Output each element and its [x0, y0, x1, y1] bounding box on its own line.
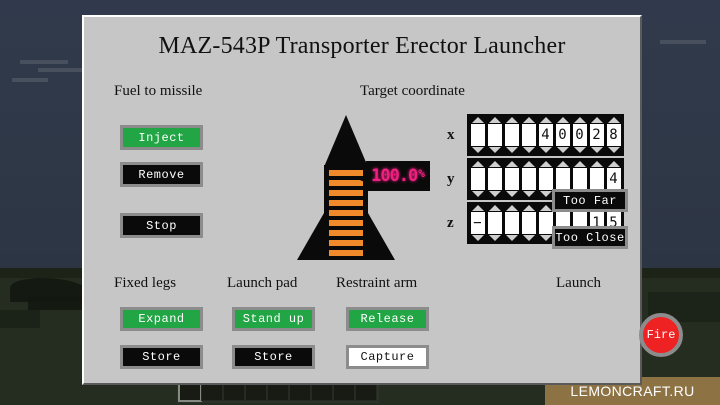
digit-value[interactable] — [488, 212, 502, 234]
digit-cell — [470, 117, 485, 153]
fuel-bar — [329, 250, 363, 256]
increment-arrow-icon[interactable] — [591, 117, 603, 123]
increment-arrow-icon[interactable] — [608, 117, 620, 123]
decrement-arrow-icon[interactable] — [608, 147, 620, 153]
digit-value[interactable]: 8 — [607, 124, 621, 146]
digit-cell: 8 — [606, 117, 621, 153]
digit-value[interactable] — [505, 168, 519, 190]
increment-arrow-icon[interactable] — [506, 117, 518, 123]
digit-value[interactable] — [522, 212, 536, 234]
digit-cell: 0 — [555, 117, 570, 153]
digit-cell: 0 — [572, 117, 587, 153]
digit-value[interactable] — [471, 124, 485, 146]
digit-value[interactable] — [522, 124, 536, 146]
led-display: 100.0 % — [366, 161, 430, 191]
digit-value[interactable]: 0 — [556, 124, 570, 146]
increment-arrow-icon[interactable] — [608, 161, 620, 167]
decrement-arrow-icon[interactable] — [506, 191, 518, 197]
increment-arrow-icon[interactable] — [540, 205, 552, 211]
cloud — [20, 60, 68, 64]
legs-expand-button[interactable]: Expand — [120, 307, 203, 331]
digit-value[interactable] — [488, 168, 502, 190]
restraint-arm-section-label: Restraint arm — [336, 275, 417, 292]
digit-value[interactable] — [590, 168, 604, 190]
increment-arrow-icon[interactable] — [506, 205, 518, 211]
fuel-bar — [329, 200, 363, 206]
decrement-arrow-icon[interactable] — [557, 147, 569, 153]
digit-cell — [504, 117, 519, 153]
fuel-level-indicator — [329, 170, 363, 256]
remove-fuel-button[interactable]: Remove — [120, 162, 203, 187]
decrement-arrow-icon[interactable] — [472, 191, 484, 197]
fuel-percent-unit: % — [418, 167, 425, 180]
increment-arrow-icon[interactable] — [506, 161, 518, 167]
digit-value[interactable] — [505, 212, 519, 234]
fuel-percent-value: 100.0 — [371, 166, 417, 186]
digit-value[interactable] — [573, 168, 587, 190]
increment-arrow-icon[interactable] — [489, 205, 501, 211]
decrement-arrow-icon[interactable] — [472, 235, 484, 241]
digit-cell — [504, 161, 519, 197]
fire-button[interactable]: Fire — [639, 313, 683, 357]
fire-button-label: Fire — [647, 328, 676, 342]
terrain-hill — [0, 310, 40, 328]
decrement-arrow-icon[interactable] — [506, 147, 518, 153]
terrain-hill — [28, 296, 90, 310]
launch-pad-section-label: Launch pad — [227, 275, 297, 292]
fuel-bar — [329, 240, 363, 246]
restraint-capture-button[interactable]: Capture — [346, 345, 429, 369]
digit-strip-x: 4 0 0 2 8 — [467, 114, 624, 156]
digit-value[interactable]: 4 — [607, 168, 621, 190]
digit-cell — [470, 161, 485, 197]
digit-cell — [487, 117, 502, 153]
decrement-arrow-icon[interactable] — [540, 235, 552, 241]
increment-arrow-icon[interactable] — [489, 117, 501, 123]
missile-fin-left — [297, 213, 324, 260]
watermark-text: LEMONCRAFT.RU — [570, 383, 694, 399]
decrement-arrow-icon[interactable] — [489, 235, 501, 241]
digit-value[interactable] — [471, 168, 485, 190]
fixed-legs-section-label: Fixed legs — [114, 275, 176, 292]
digit-cell — [504, 205, 519, 241]
increment-arrow-icon[interactable] — [574, 161, 586, 167]
increment-arrow-icon[interactable] — [557, 117, 569, 123]
increment-arrow-icon[interactable] — [540, 117, 552, 123]
digit-value[interactable] — [556, 168, 570, 190]
restraint-release-button[interactable]: Release — [346, 307, 429, 331]
decrement-arrow-icon[interactable] — [489, 191, 501, 197]
digit-value[interactable]: 4 — [539, 124, 553, 146]
cloud — [660, 40, 706, 44]
missile-nose-cone — [324, 115, 368, 167]
axis-label-x: x — [447, 127, 455, 144]
decrement-arrow-icon[interactable] — [523, 235, 535, 241]
digit-value[interactable] — [522, 168, 536, 190]
decrement-arrow-icon[interactable] — [506, 235, 518, 241]
digit-value[interactable]: − — [471, 212, 485, 234]
cloud — [12, 78, 48, 82]
increment-arrow-icon[interactable] — [523, 117, 535, 123]
digit-value[interactable]: 2 — [590, 124, 604, 146]
increment-arrow-icon[interactable] — [557, 161, 569, 167]
decrement-arrow-icon[interactable] — [472, 147, 484, 153]
pad-standup-button[interactable]: Stand up — [232, 307, 315, 331]
digit-cell — [538, 205, 553, 241]
decrement-arrow-icon[interactable] — [591, 147, 603, 153]
fuel-section-label: Fuel to missile — [114, 83, 202, 100]
decrement-arrow-icon[interactable] — [523, 147, 535, 153]
fuel-percent-readout: 100.0 % — [366, 161, 430, 191]
digit-cell: 2 — [589, 117, 604, 153]
increment-arrow-icon[interactable] — [489, 161, 501, 167]
digit-cell — [487, 161, 502, 197]
increment-arrow-icon[interactable] — [472, 205, 484, 211]
stop-fuel-button[interactable]: Stop — [120, 213, 203, 238]
page-title: MAZ-543P Transporter Erector Launcher — [84, 33, 640, 60]
fuel-bar — [329, 180, 363, 186]
digit-value[interactable] — [539, 212, 553, 234]
digit-cell — [521, 161, 536, 197]
digit-cell: 4 — [538, 117, 553, 153]
digit-cell — [487, 205, 502, 241]
digit-value[interactable] — [505, 124, 519, 146]
fuel-bar — [329, 190, 363, 196]
decrement-arrow-icon[interactable] — [523, 191, 535, 197]
increment-arrow-icon[interactable] — [472, 161, 484, 167]
decrement-arrow-icon[interactable] — [540, 147, 552, 153]
increment-arrow-icon[interactable] — [591, 161, 603, 167]
fuel-bar — [329, 220, 363, 226]
decrement-arrow-icon[interactable] — [574, 147, 586, 153]
inject-fuel-button[interactable]: Inject — [120, 125, 203, 150]
increment-arrow-icon[interactable] — [540, 161, 552, 167]
digit-cell — [521, 117, 536, 153]
coordinate-row-x: x 4 0 0 2 8 — [467, 114, 624, 156]
digit-cell — [521, 205, 536, 241]
increment-arrow-icon[interactable] — [523, 205, 535, 211]
missile-fin-right — [368, 213, 395, 260]
increment-arrow-icon[interactable] — [472, 117, 484, 123]
fuel-bar — [329, 230, 363, 236]
decrement-arrow-icon[interactable] — [489, 147, 501, 153]
too-far-button[interactable]: Too Far — [552, 189, 628, 212]
axis-label-z: z — [447, 215, 454, 232]
decrement-arrow-icon[interactable] — [540, 191, 552, 197]
target-section-label: Target coordinate — [360, 83, 465, 100]
fuel-bar — [329, 210, 363, 216]
launcher-control-panel: MAZ-543P Transporter Erector Launcher Fu… — [82, 15, 642, 385]
digit-cell — [538, 161, 553, 197]
digit-cell: − — [470, 205, 485, 241]
launch-section-label: Launch — [556, 275, 601, 292]
pad-store-button[interactable]: Store — [232, 345, 315, 369]
digit-value[interactable] — [488, 124, 502, 146]
axis-label-y: y — [447, 171, 455, 188]
digit-value[interactable]: 0 — [573, 124, 587, 146]
digit-value[interactable] — [539, 168, 553, 190]
increment-arrow-icon[interactable] — [523, 161, 535, 167]
legs-store-button[interactable]: Store — [120, 345, 203, 369]
increment-arrow-icon[interactable] — [574, 117, 586, 123]
too-close-button[interactable]: Too Close — [552, 226, 628, 249]
